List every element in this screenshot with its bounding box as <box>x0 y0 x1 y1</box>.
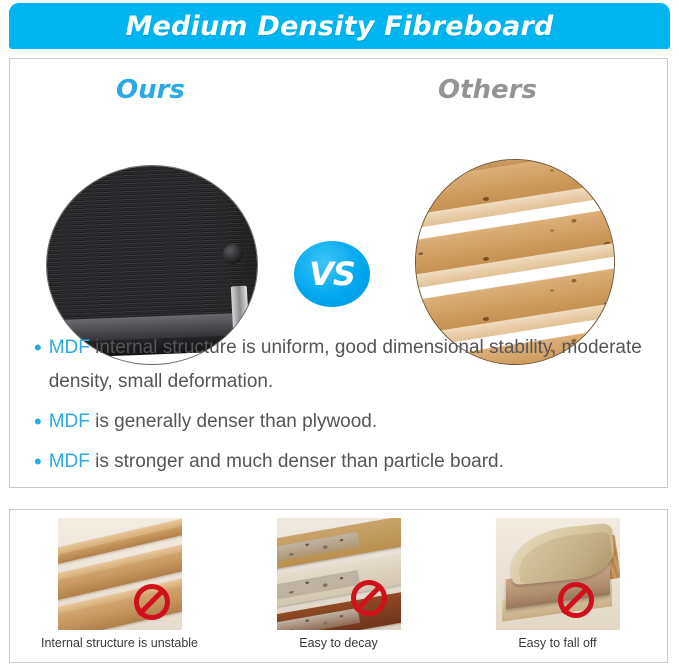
comparison-card: Ours Others VS • MDF internal structure … <box>9 58 668 488</box>
bullet-body: is generally denser than plywood. <box>90 411 377 432</box>
mdf-board-knob <box>223 244 243 264</box>
drawback-panel-internal-structure: Internal structure is unstable <box>10 510 229 662</box>
list-item: • MDF is stronger and much denser than p… <box>34 445 649 479</box>
drawback-image-2 <box>277 518 401 630</box>
no-sign-icon <box>351 580 387 616</box>
drawback-panel-decay: Easy to decay <box>229 510 448 662</box>
page-title: Medium Density Fibreboard <box>125 11 553 42</box>
ours-label: Ours <box>116 75 185 105</box>
no-sign-icon <box>134 584 170 620</box>
drawback-image-3 <box>496 518 620 630</box>
bullet-body: internal structure is uniform, good dime… <box>49 337 642 392</box>
bullet-marker-icon: • <box>34 445 42 479</box>
list-item-text: MDF is generally denser than plywood. <box>49 405 649 439</box>
bullet-marker-icon: • <box>34 405 42 439</box>
drawback-panel-fall-off: Easy to fall off <box>448 510 667 662</box>
list-item: • MDF is generally denser than plywood. <box>34 405 649 439</box>
header-banner: Medium Density Fibreboard <box>9 3 670 49</box>
vs-label: VS <box>309 255 355 293</box>
drawback-caption: Easy to decay <box>299 636 378 650</box>
vs-badge: VS <box>294 241 370 307</box>
feature-bullet-list: • MDF internal structure is uniform, goo… <box>34 331 649 485</box>
bullet-body: is stronger and much denser than particl… <box>90 451 504 472</box>
bullet-keyword: MDF <box>49 337 90 358</box>
others-label: Others <box>438 75 537 105</box>
drawback-caption: Easy to fall off <box>518 636 596 650</box>
drawback-image-1 <box>58 518 182 630</box>
bullet-keyword: MDF <box>49 451 90 472</box>
list-item: • MDF internal structure is uniform, goo… <box>34 331 649 399</box>
list-item-text: MDF is stronger and much denser than par… <box>49 445 649 479</box>
bullet-keyword: MDF <box>49 411 90 432</box>
bullet-marker-icon: • <box>34 331 42 365</box>
list-item-text: MDF internal structure is uniform, good … <box>49 331 649 399</box>
no-sign-icon <box>558 582 594 618</box>
drawbacks-card: Internal structure is unstable Easy to d… <box>9 509 668 663</box>
drawback-caption: Internal structure is unstable <box>41 636 198 650</box>
comparison-labels-row: Ours Others <box>10 75 667 115</box>
